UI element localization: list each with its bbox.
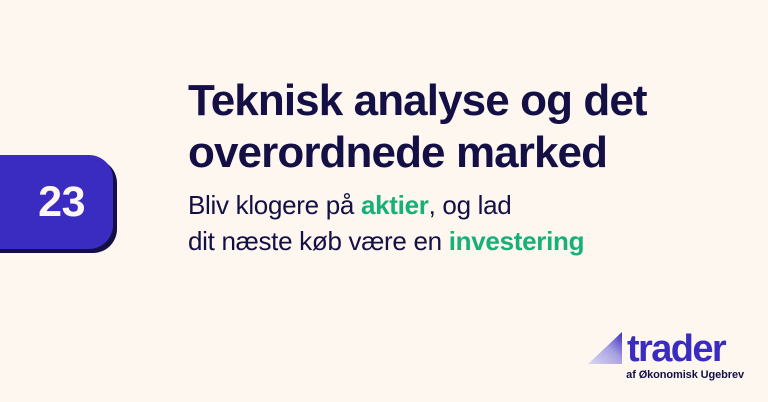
episode-number-badge: 23 bbox=[0, 155, 113, 249]
page-title: Teknisk analyse og det overordnede marke… bbox=[188, 75, 744, 179]
subtitle-line-1: Bliv klogere på aktier, og lad bbox=[188, 188, 744, 224]
headline-line-2: overordnede marked bbox=[188, 127, 744, 179]
logo-row: trader bbox=[588, 326, 744, 366]
subtitle-accent-investering: investering bbox=[449, 226, 584, 256]
trader-logo: trader af Økonomisk Ugebrev bbox=[588, 326, 744, 384]
badge-body: 23 bbox=[0, 155, 113, 249]
podcast-episode-card: 23 Teknisk analyse og det overordnede ma… bbox=[0, 0, 768, 402]
subtitle-accent-aktier: aktier bbox=[361, 190, 429, 220]
logo-tagline: af Økonomisk Ugebrev bbox=[588, 369, 744, 381]
subtitle-line-1-text-before: Bliv klogere på bbox=[188, 190, 361, 220]
subtitle-line-2: dit næste køb være en investering bbox=[188, 224, 744, 260]
subtitle-line-1-text-after: , og lad bbox=[429, 190, 512, 220]
trader-triangle-mark bbox=[588, 332, 622, 364]
subtitle-line-2-text-before: dit næste køb være en bbox=[188, 226, 449, 256]
episode-number: 23 bbox=[38, 181, 85, 224]
headline-line-1: Teknisk analyse og det bbox=[188, 75, 744, 127]
logo-wordmark: trader bbox=[627, 333, 725, 366]
subtitle: Bliv klogere på aktier, og lad dit næste… bbox=[188, 188, 744, 260]
